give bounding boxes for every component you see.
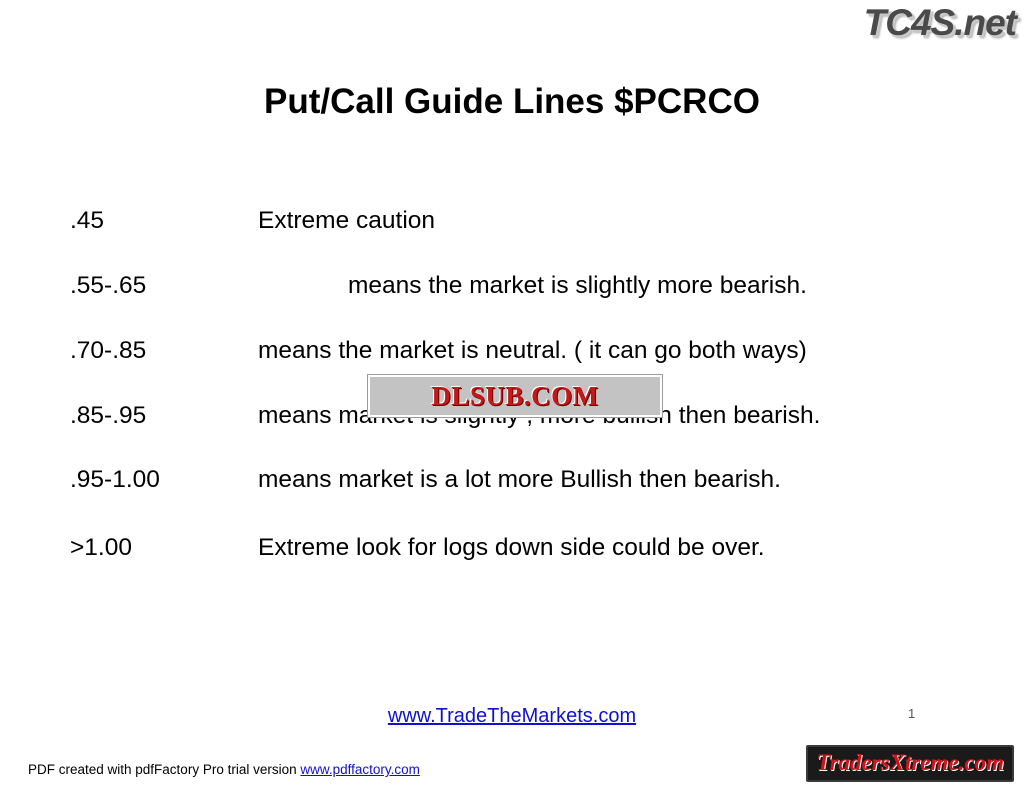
guide-line-range: .85-.95 [70,398,258,434]
guide-line-description: means market is a lot more Bullish then … [258,466,781,493]
pdf-factory-notice: PDF created with pdfFactory Pro trial ve… [28,762,420,777]
list-item: .55-.65means the market is slightly more… [70,268,970,304]
guide-line-description: Extreme look for logs down side could be… [258,534,765,561]
pdf-notice-text: PDF created with pdfFactory Pro trial ve… [28,762,300,777]
pdffactory-link[interactable]: www.pdffactory.com [300,762,420,777]
list-item: .70-.85means the market is neutral. ( it… [70,333,970,369]
list-item: .45Extreme caution [70,203,970,239]
guide-line-range: .45 [70,203,258,239]
guide-line-range: .70-.85 [70,333,258,369]
footer-website-link[interactable]: www.TradeTheMarkets.com [0,705,1024,728]
guide-line-description: Extreme caution [258,207,435,234]
guide-line-description: means the market is slightly more bearis… [258,272,807,299]
list-item: >1.00Extreme look for logs down side cou… [70,530,970,566]
watermark-overlay: DLSUB.COM [368,375,662,417]
guide-line-range: >1.00 [70,530,258,566]
brand-logo-top: TC4S.net [864,2,1016,44]
page-title: Put/Call Guide Lines $PCRCO [0,82,1024,122]
watermark-text: DLSUB.COM [431,381,598,412]
guide-line-description: means the market is neutral. ( it can go… [258,337,807,364]
page-number: 1 [908,706,915,721]
brand-logo-bottom: TradersXtreme.com [806,745,1014,782]
list-item: .95-1.00means market is a lot more Bulli… [70,462,970,498]
trade-the-markets-link[interactable]: www.TradeTheMarkets.com [388,705,636,727]
guide-line-range: .95-1.00 [70,462,258,498]
brand-logo-bottom-text: TradersXtreme.com [816,750,1004,775]
guide-line-range: .55-.65 [70,268,258,304]
